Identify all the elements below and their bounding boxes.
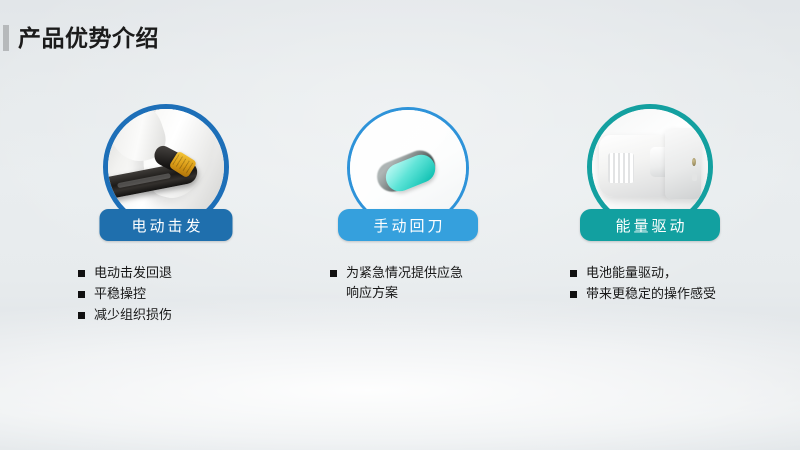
list-item-label: 平稳操控 [94,285,146,305]
contact-pin-shape [692,158,696,167]
list-item-label: 带来更稳定的操作感受 [586,285,716,305]
feature-label-electric-firing[interactable]: 电动击发 [100,209,233,241]
bullet-square-icon [570,291,577,298]
feature-label-energy-drive[interactable]: 能量驱动 [580,209,720,241]
feature-column-energy-drive: 能量驱动 电池能量驱动， 带来更稳定的操作感受 [520,0,780,450]
feature-label-manual-blade-return[interactable]: 手动回刀 [338,209,478,241]
photo-backdrop [108,109,224,225]
list-item-label: 减少组织损伤 [94,306,172,326]
title-accent-bar [3,25,9,51]
list-item: 电池能量驱动， [570,264,800,284]
bullet-square-icon [78,270,85,277]
list-item-label: 电动击发回退 [94,264,172,284]
bullet-list-3: 电池能量驱动， 带来更稳定的操作感受 [520,264,800,306]
feature-column-electric-firing: 电动击发 电动击发回退 平稳操控 减少组织损伤 [36,0,296,450]
photo-backdrop [592,109,708,225]
bullet-square-icon [330,270,337,277]
bullet-square-icon [78,291,85,298]
contact-tab-shape [692,174,698,181]
bullet-square-icon [78,312,85,319]
list-item: 带来更稳定的操作感受 [570,285,800,305]
feature-column-manual-blade-return: 手动回刀 为紧急情况提供应急 响应方案 [278,0,538,450]
list-item-label: 电池能量驱动， [586,264,677,284]
slide-canvas: 产品优势介绍 电动击发 电动击发回退 [0,0,800,450]
battery-ribs-shape [608,153,634,183]
list-item-label: 为紧急情况提供应急 响应方案 [346,264,463,304]
lever-slot-shape [117,173,171,188]
battery-contact-block-shape [665,128,701,200]
bullet-square-icon [570,270,577,277]
